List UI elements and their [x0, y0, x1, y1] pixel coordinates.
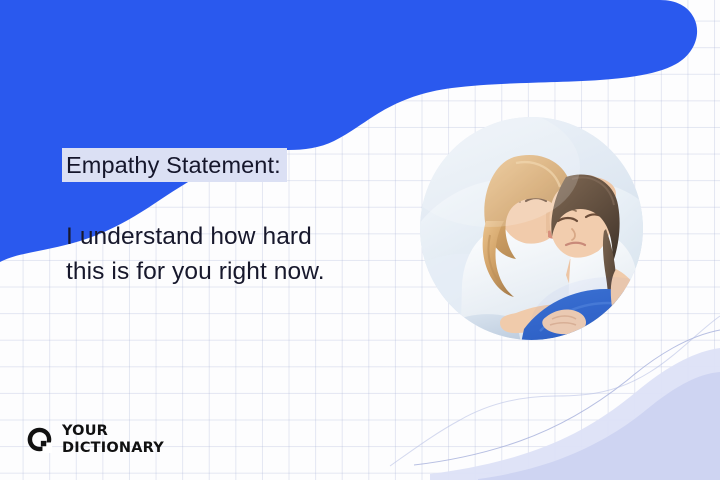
photo-illustration [420, 117, 643, 340]
statement-text-block: Empathy Statement: I understand how hard… [66, 150, 396, 289]
empathy-statement-text: I understand how hard this is for you ri… [66, 219, 396, 289]
empathy-photo [420, 117, 643, 340]
empathy-label-wrap: Empathy Statement: [66, 150, 281, 181]
ring-notch-icon [26, 426, 53, 453]
empathy-statement-card: Empathy Statement: I understand how hard… [0, 0, 720, 480]
logo-wordmark: YOUR DICTIONARY [62, 424, 164, 455]
empathy-label: Empathy Statement: [66, 148, 281, 182]
logo-line-dictionary: DICTIONARY [62, 441, 164, 456]
yourdictionary-logo[interactable]: YOUR DICTIONARY [26, 424, 164, 455]
logo-line-your: YOUR [62, 424, 164, 439]
